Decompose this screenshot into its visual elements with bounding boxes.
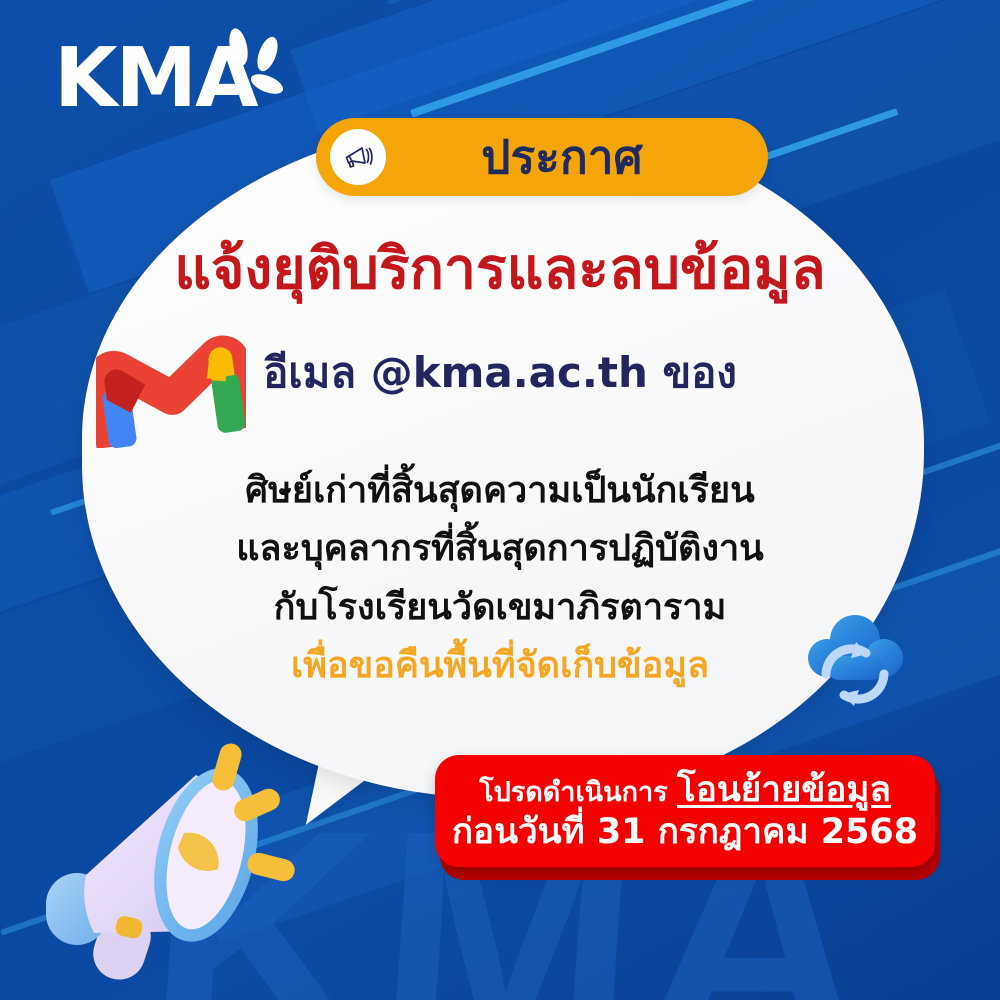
cta-banner: โปรดดำเนินการ โอนย้ายข้อมูล ก่อนวันที่ 3… (435, 755, 935, 867)
announcement-badge-label: ประกาศ (386, 134, 768, 180)
headline: แจ้งยุติบริการและลบข้อมูล (0, 238, 1000, 301)
kma-logo: KMA (54, 20, 264, 130)
megaphone-icon (330, 129, 386, 185)
kma-logo-text: KMA (54, 38, 257, 120)
announcement-badge: ประกาศ (316, 118, 768, 196)
cta-prefix: โปรดดำเนินการ (479, 777, 668, 808)
body-line-1: ศิษย์เก่าที่สิ้นสุดความเป็นนักเรียน (0, 462, 1000, 520)
cta-emphasis: โอนย้ายข้อมูล (677, 770, 891, 810)
megaphone-illustration-icon (24, 735, 354, 1000)
cta-deadline: ก่อนวันที่ 31 กรกฎาคม 2568 (452, 812, 918, 852)
gmail-logo-icon (96, 330, 246, 460)
sparkle-icon (253, 34, 281, 74)
body-line-2: และบุคลากรที่สิ้นสุดการปฏิบัติงาน (0, 520, 1000, 578)
cloud-sync-icon (800, 608, 910, 713)
cta-line-1: โปรดดำเนินการ โอนย้ายข้อมูล (479, 770, 891, 810)
announcement-poster: KMA KMA ประกาศ แจ้งยุติบริการและลบข้อมูล… (0, 0, 1000, 1000)
